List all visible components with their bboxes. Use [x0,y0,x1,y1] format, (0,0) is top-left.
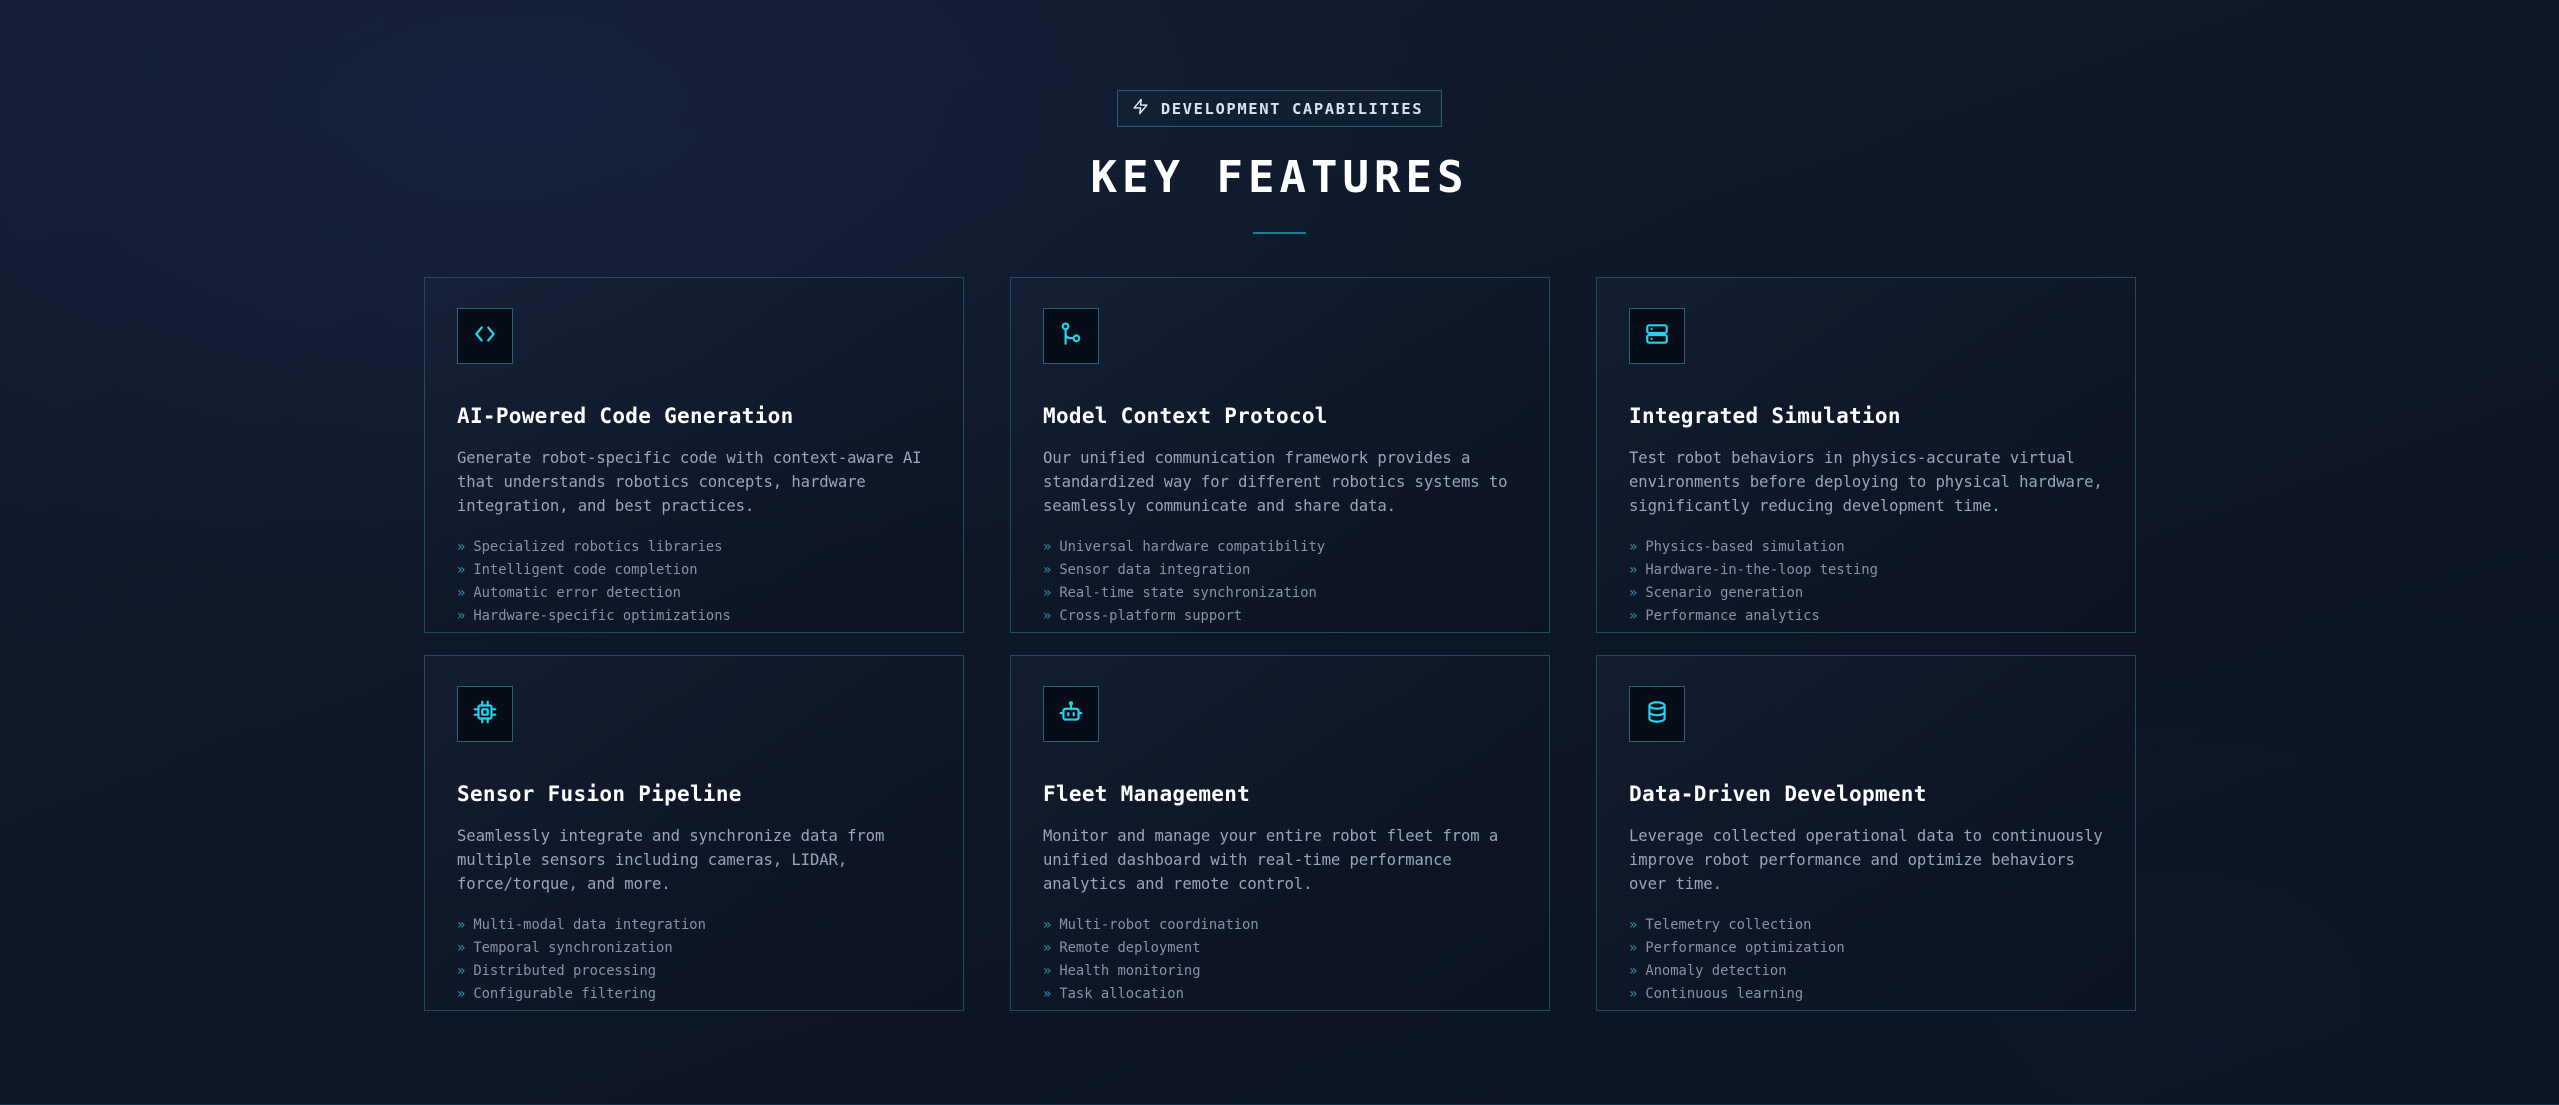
feature-description: Leverage collected operational data to c… [1629,824,2103,896]
list-item-label: Temporal synchronization [473,937,672,960]
zap-icon [1132,98,1149,119]
bullet-marker: » [457,582,465,605]
list-item: »Distributed processing [457,960,931,983]
bullet-marker: » [457,914,465,937]
feature-icon-box [1629,686,1685,742]
bullet-marker: » [1043,559,1051,582]
list-item: »Universal hardware compatibility [1043,536,1517,559]
features-page: DEVELOPMENT CAPABILITIES KEY FEATURES AI… [0,0,2559,1105]
list-item-label: Multi-modal data integration [473,914,706,937]
bullet-marker: » [457,960,465,983]
database-icon [1644,699,1670,729]
feature-title: Data-Driven Development [1629,782,2103,806]
list-item: »Automatic error detection [457,582,931,605]
bullet-marker: » [457,605,465,628]
bullet-marker: » [1629,983,1637,1006]
list-item-label: Hardware-specific optimizations [473,605,731,628]
list-item-label: Specialized robotics libraries [473,536,722,559]
git-branch-icon [1058,321,1084,351]
feature-bullet-list: »Universal hardware compatibility »Senso… [1043,536,1517,628]
list-item-label: Health monitoring [1059,960,1200,983]
bullet-marker: » [457,559,465,582]
bullet-marker: » [1629,960,1637,983]
list-item: »Continuous learning [1629,983,2103,1006]
feature-description: Seamlessly integrate and synchronize dat… [457,824,931,896]
feature-title: Fleet Management [1043,782,1517,806]
section-badge-label: DEVELOPMENT CAPABILITIES [1161,100,1423,118]
list-item-label: Remote deployment [1059,937,1200,960]
bullet-marker: » [1629,914,1637,937]
feature-card[interactable]: AI-Powered Code Generation Generate robo… [424,277,964,633]
list-item-label: Telemetry collection [1645,914,1811,937]
list-item-label: Multi-robot coordination [1059,914,1258,937]
feature-icon-box [1043,686,1099,742]
bullet-marker: » [1629,605,1637,628]
feature-title: Integrated Simulation [1629,404,2103,428]
code-brackets-icon [472,321,498,351]
bullet-marker: » [1043,960,1051,983]
bullet-marker: » [457,536,465,559]
bullet-marker: » [1629,937,1637,960]
list-item-label: Configurable filtering [473,983,656,1006]
list-item: »Configurable filtering [457,983,931,1006]
feature-card[interactable]: Model Context Protocol Our unified commu… [1010,277,1550,633]
bullet-marker: » [1043,536,1051,559]
list-item-label: Real-time state synchronization [1059,582,1317,605]
list-item-label: Distributed processing [473,960,656,983]
feature-bullet-list: »Telemetry collection »Performance optim… [1629,914,2103,1006]
feature-icon-box [457,308,513,364]
list-item-label: Hardware-in-the-loop testing [1645,559,1878,582]
title-divider [1253,232,1306,234]
list-item: »Remote deployment [1043,937,1517,960]
feature-title: Sensor Fusion Pipeline [457,782,931,806]
bullet-marker: » [1629,536,1637,559]
bullet-marker: » [1043,983,1051,1006]
list-item: »Specialized robotics libraries [457,536,931,559]
list-item-label: Universal hardware compatibility [1059,536,1325,559]
list-item-label: Task allocation [1059,983,1184,1006]
feature-title: AI-Powered Code Generation [457,404,931,428]
features-grid: AI-Powered Code Generation Generate robo… [424,277,2136,1011]
server-rack-icon [1644,321,1670,351]
bullet-marker: » [1043,914,1051,937]
feature-card[interactable]: Fleet Management Monitor and manage your… [1010,655,1550,1011]
feature-bullet-list: »Specialized robotics libraries »Intelli… [457,536,931,628]
feature-card[interactable]: Data-Driven Development Leverage collect… [1596,655,2136,1011]
feature-card[interactable]: Integrated Simulation Test robot behavio… [1596,277,2136,633]
list-item: »Hardware-in-the-loop testing [1629,559,2103,582]
list-item: »Multi-robot coordination [1043,914,1517,937]
list-item-label: Performance analytics [1645,605,1819,628]
page-title: KEY FEATURES [1091,152,1469,203]
feature-card[interactable]: Sensor Fusion Pipeline Seamlessly integr… [424,655,964,1011]
cpu-chip-icon [472,699,498,729]
feature-description: Our unified communication framework prov… [1043,446,1517,518]
section-header: DEVELOPMENT CAPABILITIES KEY FEATURES [0,0,2559,234]
list-item: »Multi-modal data integration [457,914,931,937]
feature-description: Monitor and manage your entire robot fle… [1043,824,1517,896]
list-item: »Hardware-specific optimizations [457,605,931,628]
feature-description: Test robot behaviors in physics-accurate… [1629,446,2103,518]
feature-title: Model Context Protocol [1043,404,1517,428]
list-item-label: Intelligent code completion [473,559,697,582]
feature-icon-box [457,686,513,742]
bullet-marker: » [457,937,465,960]
list-item: »Performance optimization [1629,937,2103,960]
list-item-label: Physics-based simulation [1645,536,1844,559]
robot-icon [1058,699,1084,729]
list-item: »Cross-platform support [1043,605,1517,628]
list-item: »Task allocation [1043,983,1517,1006]
bullet-marker: » [1629,559,1637,582]
list-item-label: Cross-platform support [1059,605,1242,628]
list-item-label: Continuous learning [1645,983,1803,1006]
list-item: »Telemetry collection [1629,914,2103,937]
list-item: »Temporal synchronization [457,937,931,960]
list-item-label: Anomaly detection [1645,960,1786,983]
list-item-label: Sensor data integration [1059,559,1250,582]
feature-bullet-list: »Physics-based simulation »Hardware-in-t… [1629,536,2103,628]
feature-icon-box [1043,308,1099,364]
list-item: »Scenario generation [1629,582,2103,605]
list-item: »Real-time state synchronization [1043,582,1517,605]
list-item: »Physics-based simulation [1629,536,2103,559]
feature-icon-box [1629,308,1685,364]
section-badge: DEVELOPMENT CAPABILITIES [1117,90,1442,127]
bullet-marker: » [1043,605,1051,628]
feature-description: Generate robot-specific code with contex… [457,446,931,518]
bullet-marker: » [1043,582,1051,605]
list-item: »Performance analytics [1629,605,2103,628]
list-item-label: Scenario generation [1645,582,1803,605]
feature-bullet-list: »Multi-robot coordination »Remote deploy… [1043,914,1517,1006]
bullet-marker: » [457,983,465,1006]
list-item-label: Performance optimization [1645,937,1844,960]
list-item-label: Automatic error detection [473,582,681,605]
list-item: »Anomaly detection [1629,960,2103,983]
feature-bullet-list: »Multi-modal data integration »Temporal … [457,914,931,1006]
bullet-marker: » [1043,937,1051,960]
list-item: »Intelligent code completion [457,559,931,582]
list-item: »Health monitoring [1043,960,1517,983]
bullet-marker: » [1629,582,1637,605]
list-item: »Sensor data integration [1043,559,1517,582]
